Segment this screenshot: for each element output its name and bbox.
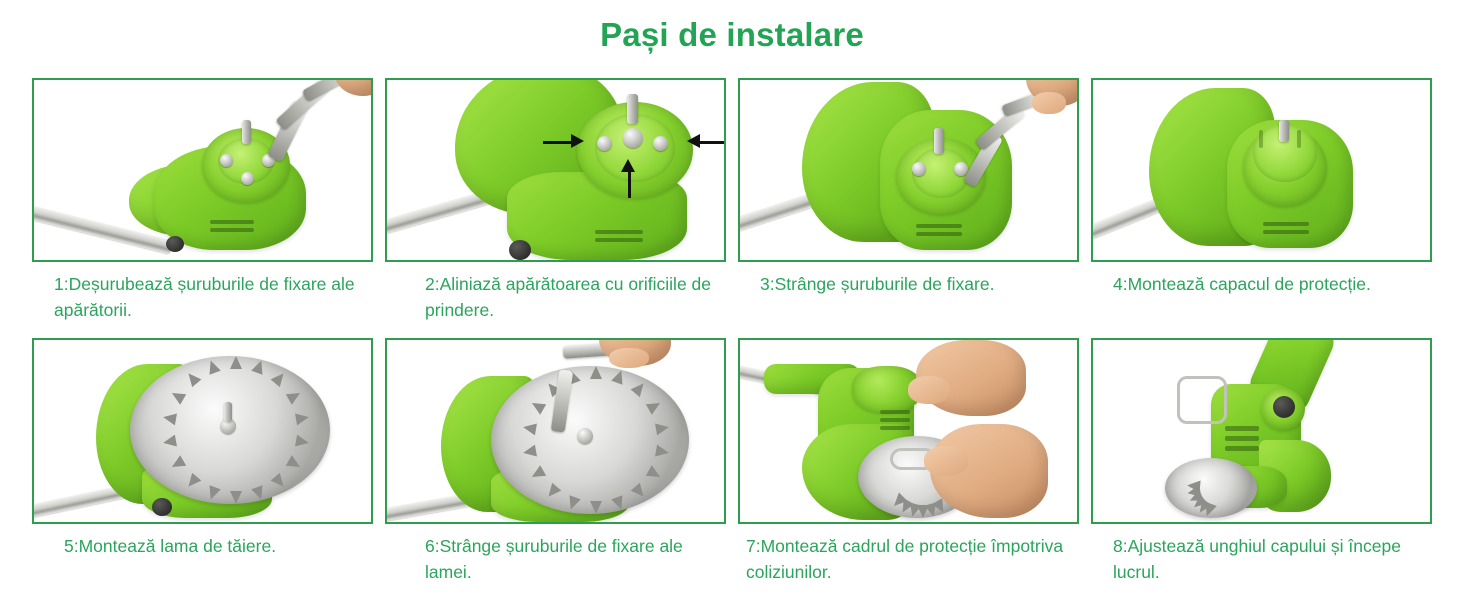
step-image-8 bbox=[1091, 338, 1432, 524]
step-card-7: 7:Montează cadrul de protecție împotriva… bbox=[738, 338, 1079, 585]
steps-row-1: 1:Deșurubează șuruburile de fixare ale a… bbox=[0, 78, 1464, 340]
step-card-5: 5:Montează lama de tăiere. bbox=[32, 338, 373, 559]
step-card-1: 1:Deșurubează șuruburile de fixare ale a… bbox=[32, 78, 373, 323]
step-image-6 bbox=[385, 338, 726, 524]
step-caption-5: 5:Montează lama de tăiere. bbox=[32, 533, 373, 559]
step-caption-7: 7:Montează cadrul de protecție împotriva… bbox=[738, 533, 1079, 585]
step-card-6: 6:Strânge șuruburile de fixare ale lamei… bbox=[385, 338, 726, 585]
step-caption-3: 3:Strânge șuruburile de fixare. bbox=[738, 271, 1079, 297]
step-image-7 bbox=[738, 338, 1079, 524]
step-card-4: 4:Montează capacul de protecție. bbox=[1091, 78, 1432, 297]
installation-steps-page: Pași de instalare bbox=[0, 0, 1464, 600]
step-image-3 bbox=[738, 78, 1079, 262]
step-caption-2: 2:Aliniază apărătoarea cu orificiile de … bbox=[385, 271, 726, 323]
step-card-2: 2:Aliniază apărătoarea cu orificiile de … bbox=[385, 78, 726, 323]
step-caption-1: 1:Deșurubează șuruburile de fixare ale a… bbox=[32, 271, 373, 323]
step-caption-8: 8:Ajustează unghiul capului și începe lu… bbox=[1091, 533, 1432, 585]
steps-grid: 1:Deșurubează șuruburile de fixare ale a… bbox=[0, 78, 1464, 600]
steps-row-2: 5:Montează lama de tăiere. bbox=[0, 338, 1464, 600]
step-card-8: 8:Ajustează unghiul capului și începe lu… bbox=[1091, 338, 1432, 585]
step-caption-4: 4:Montează capacul de protecție. bbox=[1091, 271, 1432, 297]
step-image-2 bbox=[385, 78, 726, 262]
step-caption-6: 6:Strânge șuruburile de fixare ale lamei… bbox=[385, 533, 726, 585]
page-title: Pași de instalare bbox=[0, 16, 1464, 54]
step-image-4 bbox=[1091, 78, 1432, 262]
step-card-3: 3:Strânge șuruburile de fixare. bbox=[738, 78, 1079, 297]
step-image-5 bbox=[32, 338, 373, 524]
step-image-1 bbox=[32, 78, 373, 262]
